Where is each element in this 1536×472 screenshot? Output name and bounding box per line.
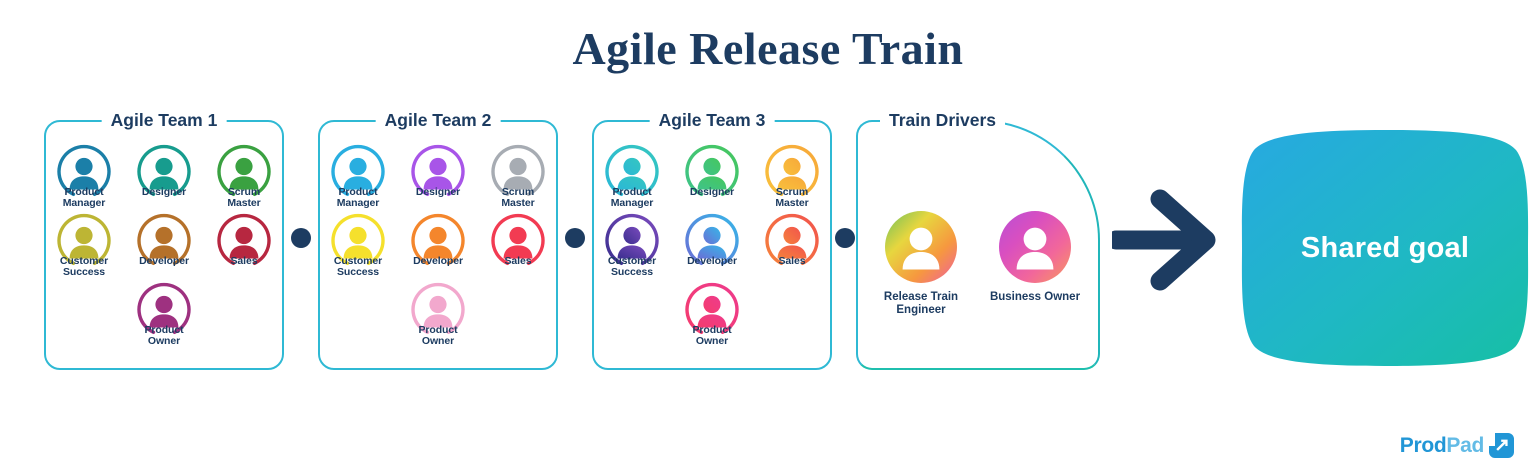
label-line: Owner xyxy=(127,336,201,347)
team-member[interactable]: ScrumMaster xyxy=(755,144,829,209)
label-line: Developer xyxy=(401,256,475,267)
team-panel-3: Agile Team 3 ProductManager Desi xyxy=(592,120,832,370)
team-member-label: ProductOwner xyxy=(127,325,201,347)
connector-dot xyxy=(565,228,585,248)
team-member[interactable]: ScrumMaster xyxy=(481,144,555,209)
team-member[interactable]: CustomerSuccess xyxy=(47,213,121,278)
label-line: Success xyxy=(321,267,395,278)
connector-dot xyxy=(291,228,311,248)
train-driver-label: Business Owner xyxy=(985,291,1085,304)
team-member-label: Sales xyxy=(481,256,555,267)
team-member-label: ProductManager xyxy=(321,187,395,209)
driver-row: Release TrainEngineer Business Owner xyxy=(858,210,1098,317)
team-member-label: CustomerSuccess xyxy=(595,256,669,278)
train-drivers-panel: Train Drivers Release TrainEngineer Busi… xyxy=(856,120,1100,370)
flow-arrow-icon xyxy=(1112,180,1222,300)
label-line: Business Owner xyxy=(985,291,1085,304)
team-member-label: Designer xyxy=(675,187,749,198)
team-member[interactable]: Developer xyxy=(127,213,201,278)
team-member[interactable]: ProductManager xyxy=(595,144,669,209)
logo-text-prod: Prod xyxy=(1400,434,1447,457)
team-member-label: Developer xyxy=(675,256,749,267)
label-line: Owner xyxy=(675,336,749,347)
label-line: Success xyxy=(47,267,121,278)
team-panel-1: Agile Team 1 ProductManager Designer xyxy=(44,120,284,370)
label-line: Release Train xyxy=(871,291,971,304)
diagram-canvas: Agile Release Train Agile Team 1 Product… xyxy=(0,0,1536,472)
label-line: Designer xyxy=(127,187,201,198)
team-member-label: Developer xyxy=(401,256,475,267)
label-line: Owner xyxy=(401,336,475,347)
team-member-label: ScrumMaster xyxy=(207,187,281,209)
driver-avatar-icon xyxy=(985,210,1085,284)
logo-text-pad: Pad xyxy=(1446,434,1484,457)
label-line: Designer xyxy=(401,187,475,198)
team-member[interactable]: ProductManager xyxy=(47,144,121,209)
team-member-label: CustomerSuccess xyxy=(47,256,121,278)
prodpad-logo[interactable]: ProdPad xyxy=(1400,433,1514,458)
member-row: ProductOwner xyxy=(320,282,556,347)
team-member-label: Sales xyxy=(207,256,281,267)
team-member-label: ProductManager xyxy=(47,187,121,209)
member-row: CustomerSuccess Developer xyxy=(594,213,830,278)
team-member-label: ProductManager xyxy=(595,187,669,209)
team-member[interactable]: Developer xyxy=(401,213,475,278)
team-member-label: Sales xyxy=(755,256,829,267)
train-drivers-panel-title: Train Drivers xyxy=(880,109,1005,131)
team-member[interactable]: ProductManager xyxy=(321,144,395,209)
train-driver[interactable]: Release TrainEngineer xyxy=(871,210,971,317)
train-driver[interactable]: Business Owner xyxy=(985,210,1085,317)
member-row: ProductOwner xyxy=(46,282,282,347)
team-member[interactable]: ScrumMaster xyxy=(207,144,281,209)
connector-dot xyxy=(835,228,855,248)
label-line: Manager xyxy=(47,198,121,209)
member-row: CustomerSuccess Developer Sales xyxy=(46,213,282,278)
team-member-label: ProductOwner xyxy=(401,325,475,347)
team-member-label: Designer xyxy=(127,187,201,198)
member-row: ProductManager Designer ScrumMaster xyxy=(320,144,556,209)
member-row: ProductOwner xyxy=(594,282,830,347)
team-member-label: ProductOwner xyxy=(675,325,749,347)
member-grid: ProductManager Designer xyxy=(594,144,830,351)
member-row: ProductManager Designer xyxy=(594,144,830,209)
team-panel-title: Agile Team 2 xyxy=(376,109,501,131)
team-panel-title: Agile Team 1 xyxy=(102,109,227,131)
label-line: Designer xyxy=(675,187,749,198)
member-row: CustomerSuccess Developer Sales xyxy=(320,213,556,278)
team-member[interactable]: Designer xyxy=(401,144,475,209)
team-member-label: Developer xyxy=(127,256,201,267)
team-member-label: ScrumMaster xyxy=(481,187,555,209)
label-line: Sales xyxy=(755,256,829,267)
team-member[interactable]: ProductOwner xyxy=(127,282,201,347)
label-line: Manager xyxy=(321,198,395,209)
team-panel-2: Agile Team 2 ProductManager Designer xyxy=(318,120,558,370)
team-member[interactable]: Developer xyxy=(675,213,749,278)
team-member[interactable]: CustomerSuccess xyxy=(321,213,395,278)
logo-wordmark: ProdPad xyxy=(1400,434,1484,458)
label-line: Sales xyxy=(207,256,281,267)
team-member[interactable]: ProductOwner xyxy=(401,282,475,347)
team-member[interactable]: Sales xyxy=(481,213,555,278)
label-line: Manager xyxy=(595,198,669,209)
label-line: Developer xyxy=(675,256,749,267)
label-line: Master xyxy=(481,198,555,209)
team-member[interactable]: Designer xyxy=(675,144,749,209)
train-driver-label: Release TrainEngineer xyxy=(871,291,971,317)
driver-avatar-icon xyxy=(871,210,971,284)
shared-goal-shape xyxy=(1240,128,1530,368)
member-row: ProductManager Designer ScrumMaster xyxy=(46,144,282,209)
team-member[interactable]: Designer xyxy=(127,144,201,209)
prodpad-arrow-icon xyxy=(1489,433,1514,458)
team-member[interactable]: Sales xyxy=(207,213,281,278)
team-member-label: CustomerSuccess xyxy=(321,256,395,278)
team-member-label: Designer xyxy=(401,187,475,198)
label-line: Sales xyxy=(481,256,555,267)
team-member-label: ScrumMaster xyxy=(755,187,829,209)
member-grid: ProductManager Designer ScrumMaster xyxy=(320,144,556,351)
label-line: Engineer xyxy=(871,304,971,317)
label-line: Developer xyxy=(127,256,201,267)
label-line: Master xyxy=(755,198,829,209)
team-member[interactable]: CustomerSuccess xyxy=(595,213,669,278)
team-member[interactable]: Sales xyxy=(755,213,829,278)
team-member[interactable]: ProductOwner xyxy=(675,282,749,347)
member-grid: ProductManager Designer ScrumMaster xyxy=(46,144,282,351)
team-panel-title: Agile Team 3 xyxy=(650,109,775,131)
label-line: Success xyxy=(595,267,669,278)
label-line: Master xyxy=(207,198,281,209)
page-title: Agile Release Train xyxy=(0,22,1536,75)
